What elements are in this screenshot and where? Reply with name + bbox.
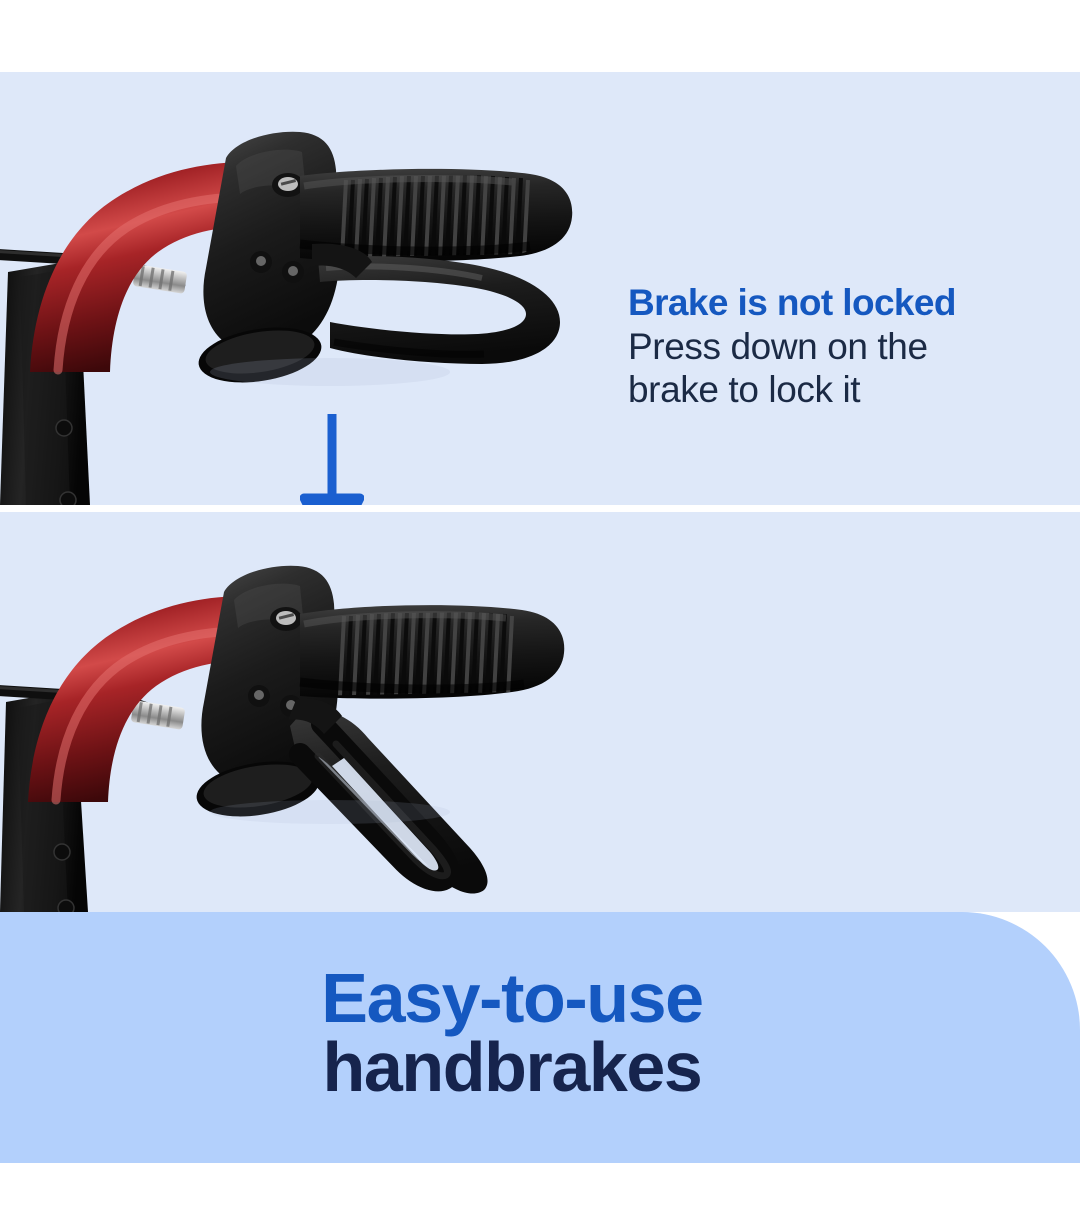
callout-headline: Brake is not locked xyxy=(628,282,1058,324)
callout-body-line-2: brake to lock it xyxy=(628,369,1058,412)
photo-brake-locked xyxy=(0,512,1080,912)
banner-title-line-2: handbrakes xyxy=(0,1033,1024,1102)
feature-banner: Easy-to-use handbrakes xyxy=(0,912,1080,1163)
arrow-down-icon xyxy=(300,414,364,505)
banner-title-line-1: Easy-to-use xyxy=(0,964,1024,1033)
panel-brake-unlocked: Brake is not locked Press down on the br… xyxy=(0,72,1080,505)
banner-title: Easy-to-use handbrakes xyxy=(0,964,1024,1103)
callout-body-line-1: Press down on the xyxy=(628,326,1058,369)
callout-brake-unlocked: Brake is not locked Press down on the br… xyxy=(628,282,1058,412)
panel-brake-locked: Brake is in the locked position To relea… xyxy=(0,512,1080,912)
